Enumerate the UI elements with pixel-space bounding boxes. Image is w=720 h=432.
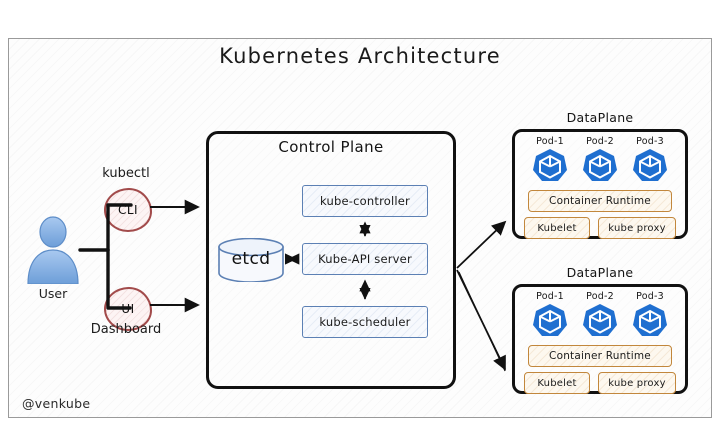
container-runtime-box[interactable]: Container Runtime [528,345,672,367]
dataplane-1-title: DataPlane [512,110,688,125]
control-plane-title: Control Plane [206,138,456,156]
watermark-label: @venkube [22,396,90,411]
node-agents-row: Kubelet kube proxy [515,212,685,239]
etcd-label: etcd [218,249,284,269]
pod-item[interactable]: Pod-3 [630,291,670,341]
user-label: User [18,286,88,301]
dataplane-1-container: Pod-1 Pod-2 [512,129,688,239]
pod-label: Pod-2 [580,136,620,147]
kubernetes-pod-icon [530,303,570,341]
kubernetes-pod-icon [630,303,670,341]
kube-controller-box[interactable]: kube-controller [302,185,428,217]
page-title: Kubernetes Architecture [0,44,720,68]
kubernetes-pod-icon [580,148,620,186]
dashboard-label: Dashboard [78,322,174,337]
kubelet-box[interactable]: Kubelet [524,372,590,394]
kubelet-box[interactable]: Kubelet [524,217,590,239]
kubernetes-pod-icon [530,148,570,186]
node-agents-row: Kubelet kube proxy [515,367,685,394]
pod-item[interactable]: Pod-2 [580,291,620,341]
container-runtime-box[interactable]: Container Runtime [528,190,672,212]
cli-node[interactable]: CLI [104,188,152,232]
dataplane-2-title: DataPlane [512,265,688,280]
pod-item[interactable]: Pod-2 [580,136,620,186]
dataplane-2-container: Pod-1 Pod-2 [512,284,688,394]
pod-label: Pod-2 [580,291,620,302]
kube-proxy-box[interactable]: kube proxy [598,217,676,239]
kube-scheduler-box[interactable]: kube-scheduler [302,306,428,338]
kube-api-server-box[interactable]: Kube-API server [302,243,428,275]
pod-item[interactable]: Pod-3 [630,136,670,186]
pod-item[interactable]: Pod-1 [530,136,570,186]
pod-item[interactable]: Pod-1 [530,291,570,341]
pod-label: Pod-3 [630,136,670,147]
pod-row: Pod-1 Pod-2 [515,287,685,341]
pod-label: Pod-1 [530,136,570,147]
kubectl-label: kubectl [84,166,168,181]
kubernetes-pod-icon [630,148,670,186]
kube-proxy-box[interactable]: kube proxy [598,372,676,394]
pod-label: Pod-1 [530,291,570,302]
pod-row: Pod-1 Pod-2 [515,132,685,186]
kubernetes-pod-icon [580,303,620,341]
pod-label: Pod-3 [630,291,670,302]
diagram-canvas: Kubernetes Architecture User kubectl CLI… [0,0,720,432]
user-avatar-icon [22,216,84,284]
